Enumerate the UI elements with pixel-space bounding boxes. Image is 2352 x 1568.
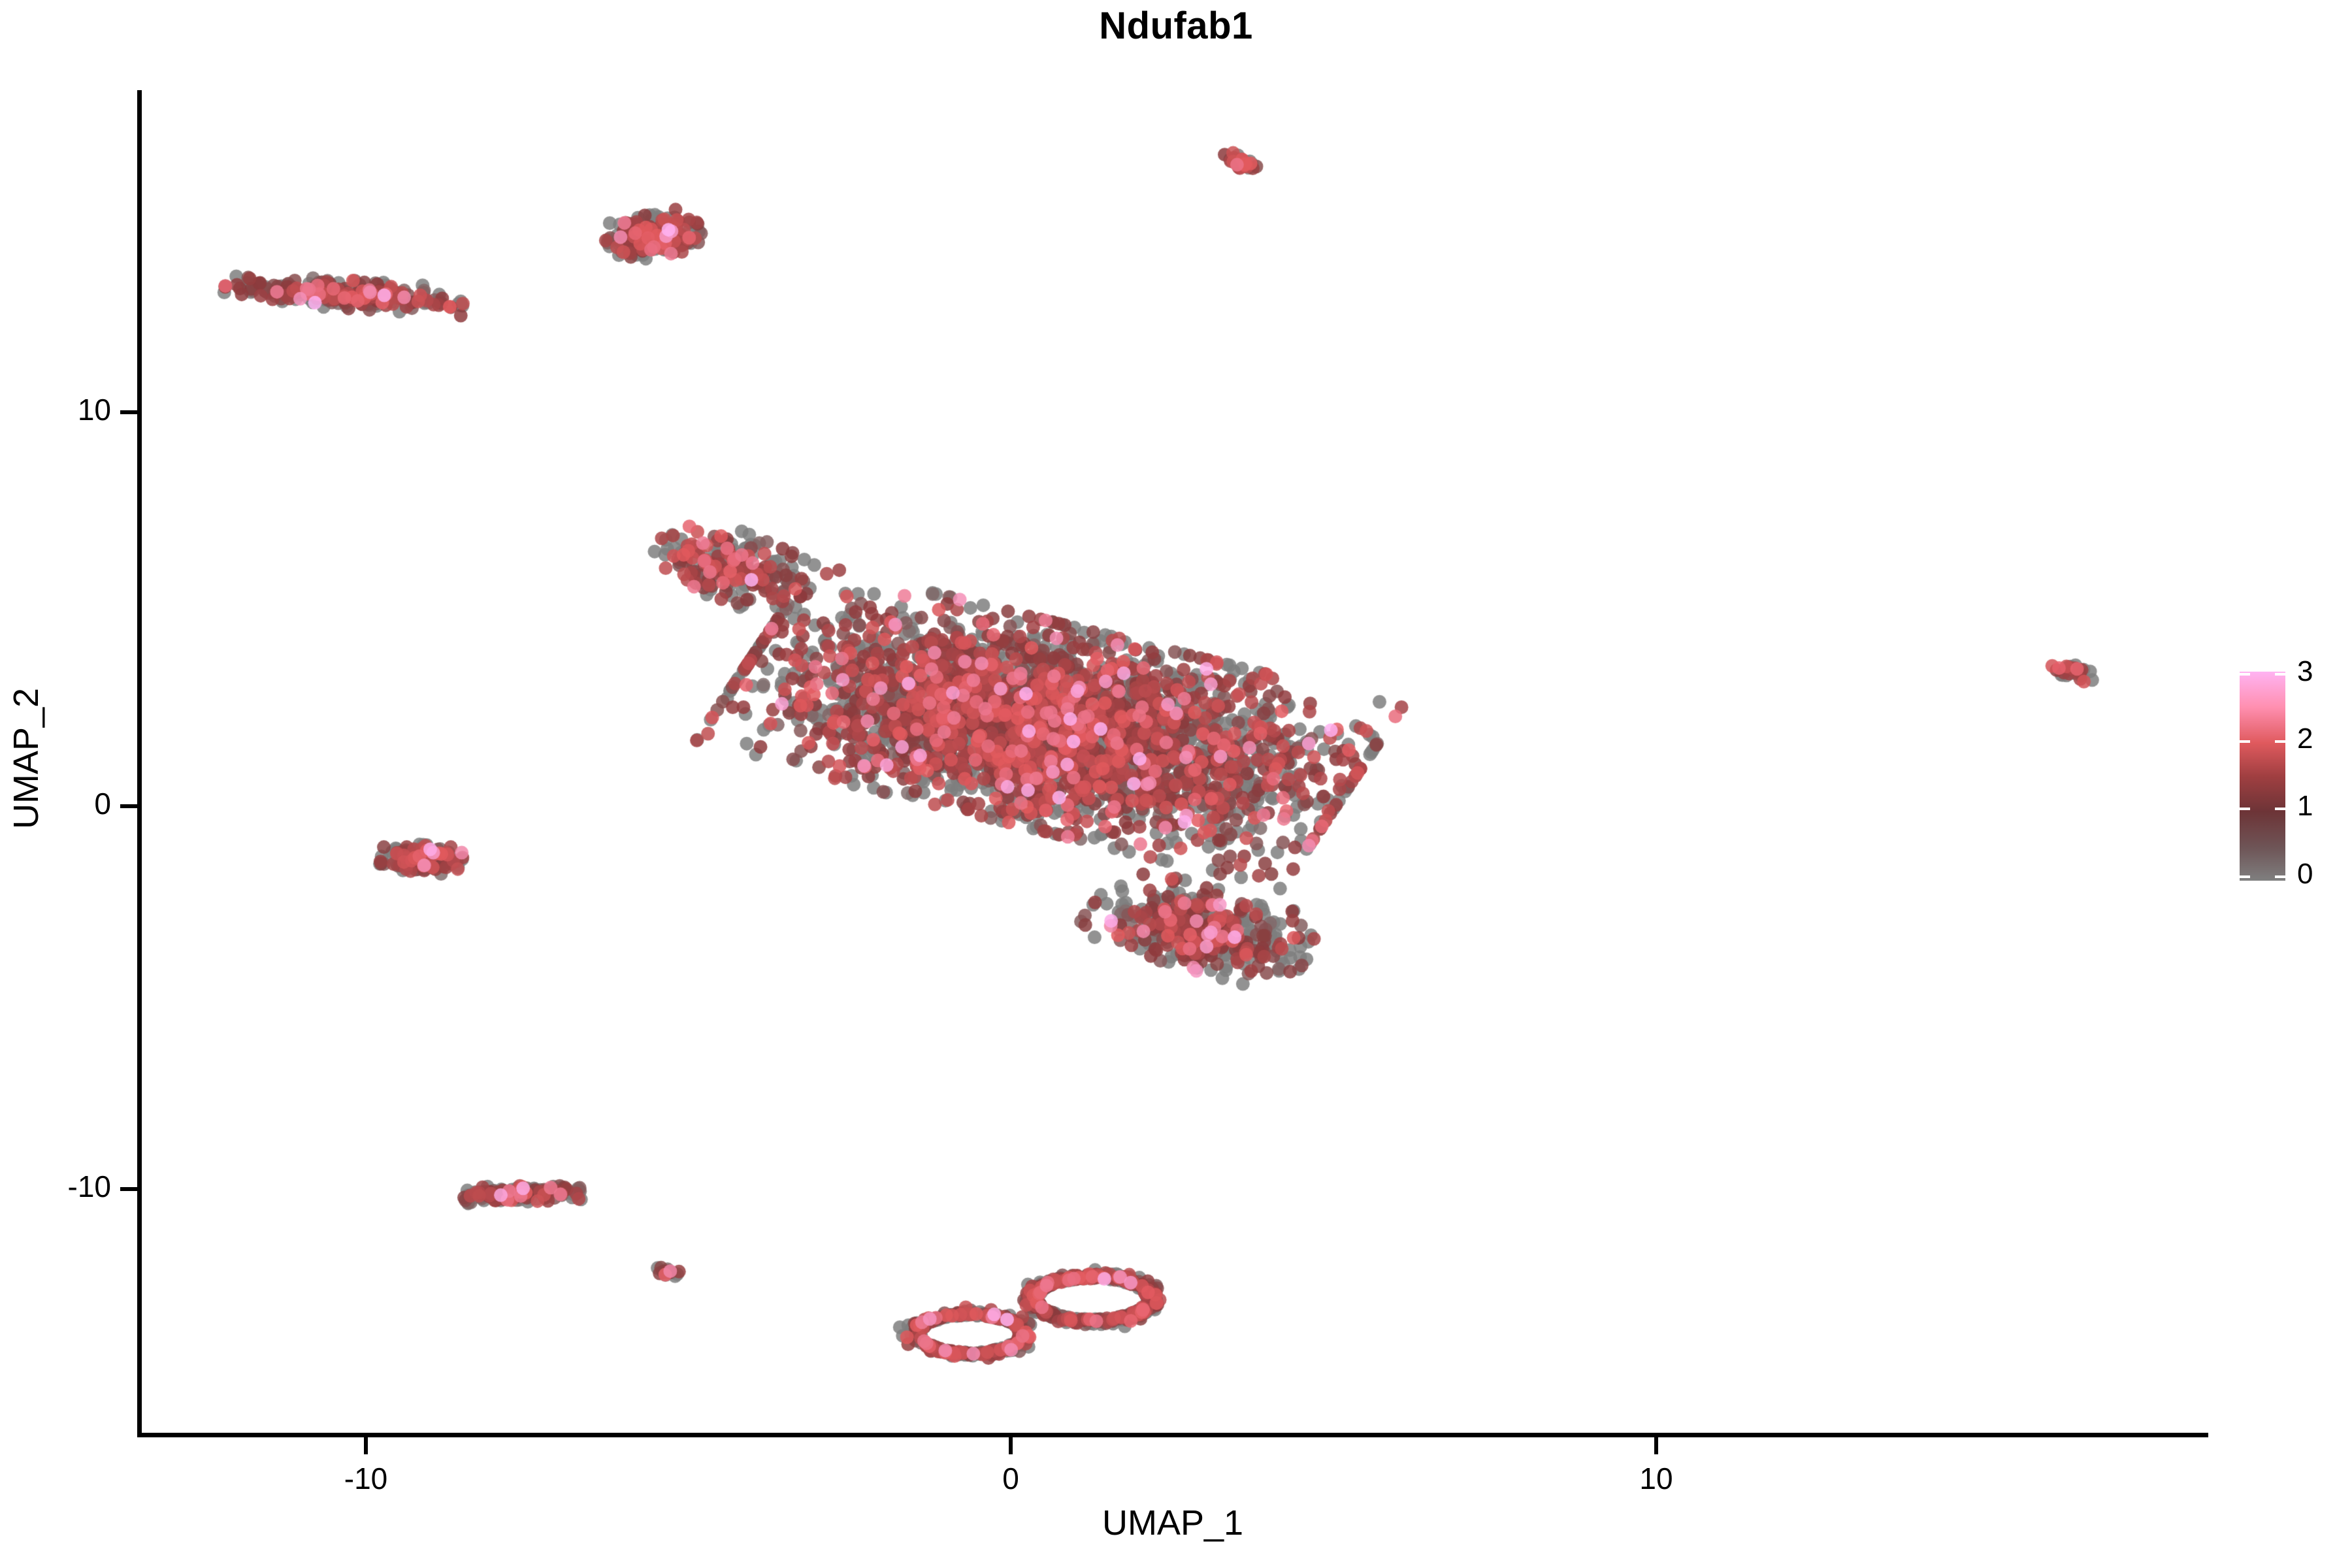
x-axis-line <box>137 1433 2208 1437</box>
x-tick-mark-0 <box>1009 1437 1013 1454</box>
x-tick-label-0: 0 <box>945 1461 1076 1496</box>
colorbar-gradient <box>2240 672 2285 881</box>
page-title: Ndufab1 <box>0 4 2352 48</box>
y-tick-mark-neg10 <box>120 1187 137 1191</box>
y-tick-mark-0 <box>120 804 137 808</box>
colorbar-label-0: 0 <box>2297 860 2313 889</box>
x-tick-label-10: 10 <box>1591 1461 1722 1496</box>
colorbar-label-1: 1 <box>2297 792 2313 821</box>
y-tick-label-10: 10 <box>20 392 111 427</box>
colorbar-label-3: 3 <box>2297 657 2313 686</box>
colorbar-tick-2-right <box>2275 740 2285 743</box>
umap-feature-plot: Ndufab1 10 0 -10 -10 0 10 UMAP_1 UMAP_2 … <box>0 0 2352 1568</box>
colorbar-tick-0 <box>2240 875 2250 878</box>
x-axis-title: UMAP_1 <box>137 1503 2208 1543</box>
x-tick-mark-10 <box>1654 1437 1658 1454</box>
colorbar-tick-3-right <box>2275 673 2285 676</box>
x-tick-mark-neg10 <box>364 1437 368 1454</box>
y-tick-label-neg10: -10 <box>20 1169 111 1204</box>
colorbar-tick-3 <box>2240 673 2250 676</box>
x-tick-label-neg10: -10 <box>301 1461 431 1496</box>
colorbar-tick-2 <box>2240 740 2250 743</box>
y-axis-title: UMAP_2 <box>6 563 46 955</box>
y-tick-mark-10 <box>120 410 137 414</box>
scatter-plot-canvas <box>0 0 2352 1568</box>
colorbar-tick-0-right <box>2275 875 2285 878</box>
colorbar-tick-1 <box>2240 808 2250 810</box>
colorbar-label-2: 2 <box>2297 725 2313 753</box>
color-legend: 3 2 1 0 <box>2234 666 2345 895</box>
colorbar-tick-1-right <box>2275 808 2285 810</box>
y-axis-line <box>137 90 142 1437</box>
